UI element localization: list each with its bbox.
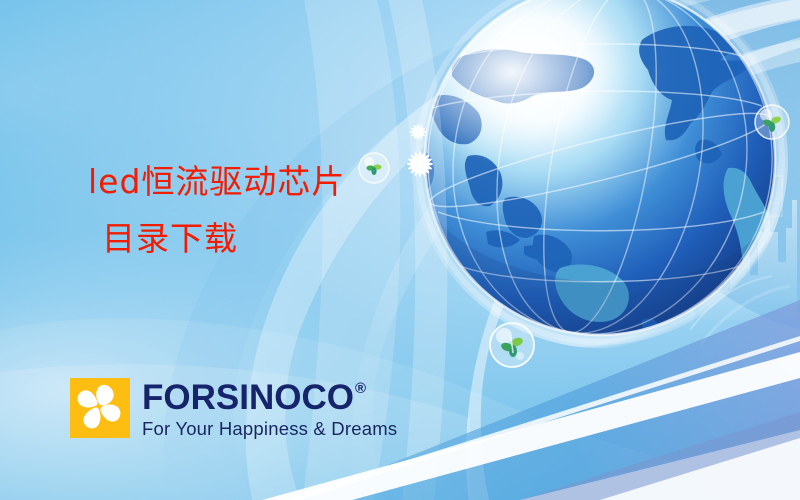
bubble-pinwheel-right (755, 105, 789, 139)
poster-canvas: led恒流驱动芯片 目录下载 FORSINOCO ® For Your Happ… (0, 0, 800, 500)
four-petal-flower-icon (70, 378, 130, 438)
company-logo: FORSINOCO ® For Your Happiness & Dreams (70, 378, 397, 440)
registered-trademark-icon: ® (355, 381, 366, 396)
logo-tagline: For Your Happiness & Dreams (142, 418, 397, 440)
bubble-pinwheel-large (490, 323, 534, 367)
logo-text-block: FORSINOCO ® For Your Happiness & Dreams (142, 378, 397, 440)
logo-wordmark-row: FORSINOCO ® (142, 380, 397, 415)
logo-wordmark: FORSINOCO (142, 380, 354, 415)
title-line-2: 目录下载 (88, 217, 508, 262)
title-line-1: led恒流驱动芯片 (88, 160, 508, 205)
poster-title: led恒流驱动芯片 目录下载 (88, 160, 508, 261)
